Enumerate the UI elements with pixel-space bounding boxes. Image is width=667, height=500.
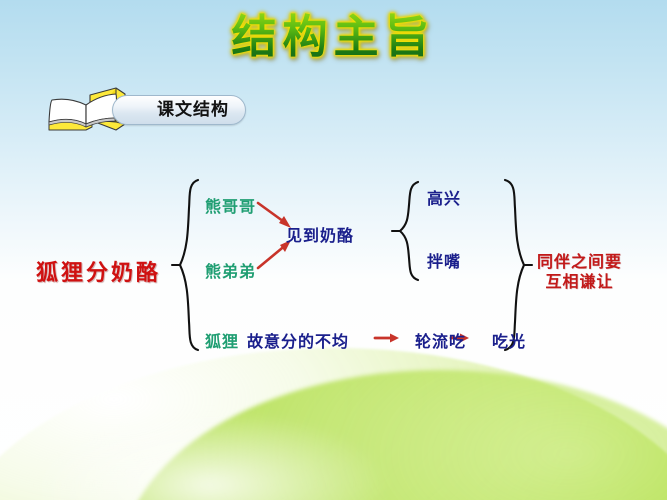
diagram-conclusion: 同伴之间要 互相谦让 [537, 252, 622, 291]
diagram-conclusion-line2: 互相谦让 [537, 272, 622, 292]
slide-canvas: 结构主旨 课文结构 [0, 0, 667, 500]
diagram-merge-node: 见到奶酪 [286, 226, 354, 246]
diagram-bottom-node-4: 吃光 [492, 328, 526, 352]
curly-brace-icon [172, 180, 198, 350]
arrow-right-icon [258, 203, 291, 228]
diagram-reaction-node-2: 拌嘴 [427, 252, 461, 272]
diagram-reaction-node-1: 高兴 [427, 189, 461, 209]
diagram-bottom-row: 狐狸 故意分的不均 轮流吃 吃光 [205, 328, 526, 352]
diagram-root-node: 狐狸分奶酪 [36, 260, 161, 287]
page-title: 结构主旨 [0, 9, 667, 65]
diagram-conclusion-line1: 同伴之间要 [537, 252, 622, 272]
diagram-branch-node-2: 熊弟弟 [205, 262, 256, 282]
diagram-bottom-node-2: 故意分的不均 [247, 328, 349, 352]
section-label-pill[interactable]: 课文结构 [112, 95, 246, 125]
diagram-bottom-node-3: 轮流吃 [415, 328, 466, 352]
curly-brace-icon [392, 182, 418, 280]
section-label-text: 课文结构 [157, 102, 229, 119]
section-label-group: 课文结构 [46, 86, 296, 138]
diagram-bottom-node-1: 狐狸 [205, 328, 239, 352]
curly-brace-icon [505, 180, 532, 350]
diagram-branch-node-1: 熊哥哥 [205, 197, 256, 217]
